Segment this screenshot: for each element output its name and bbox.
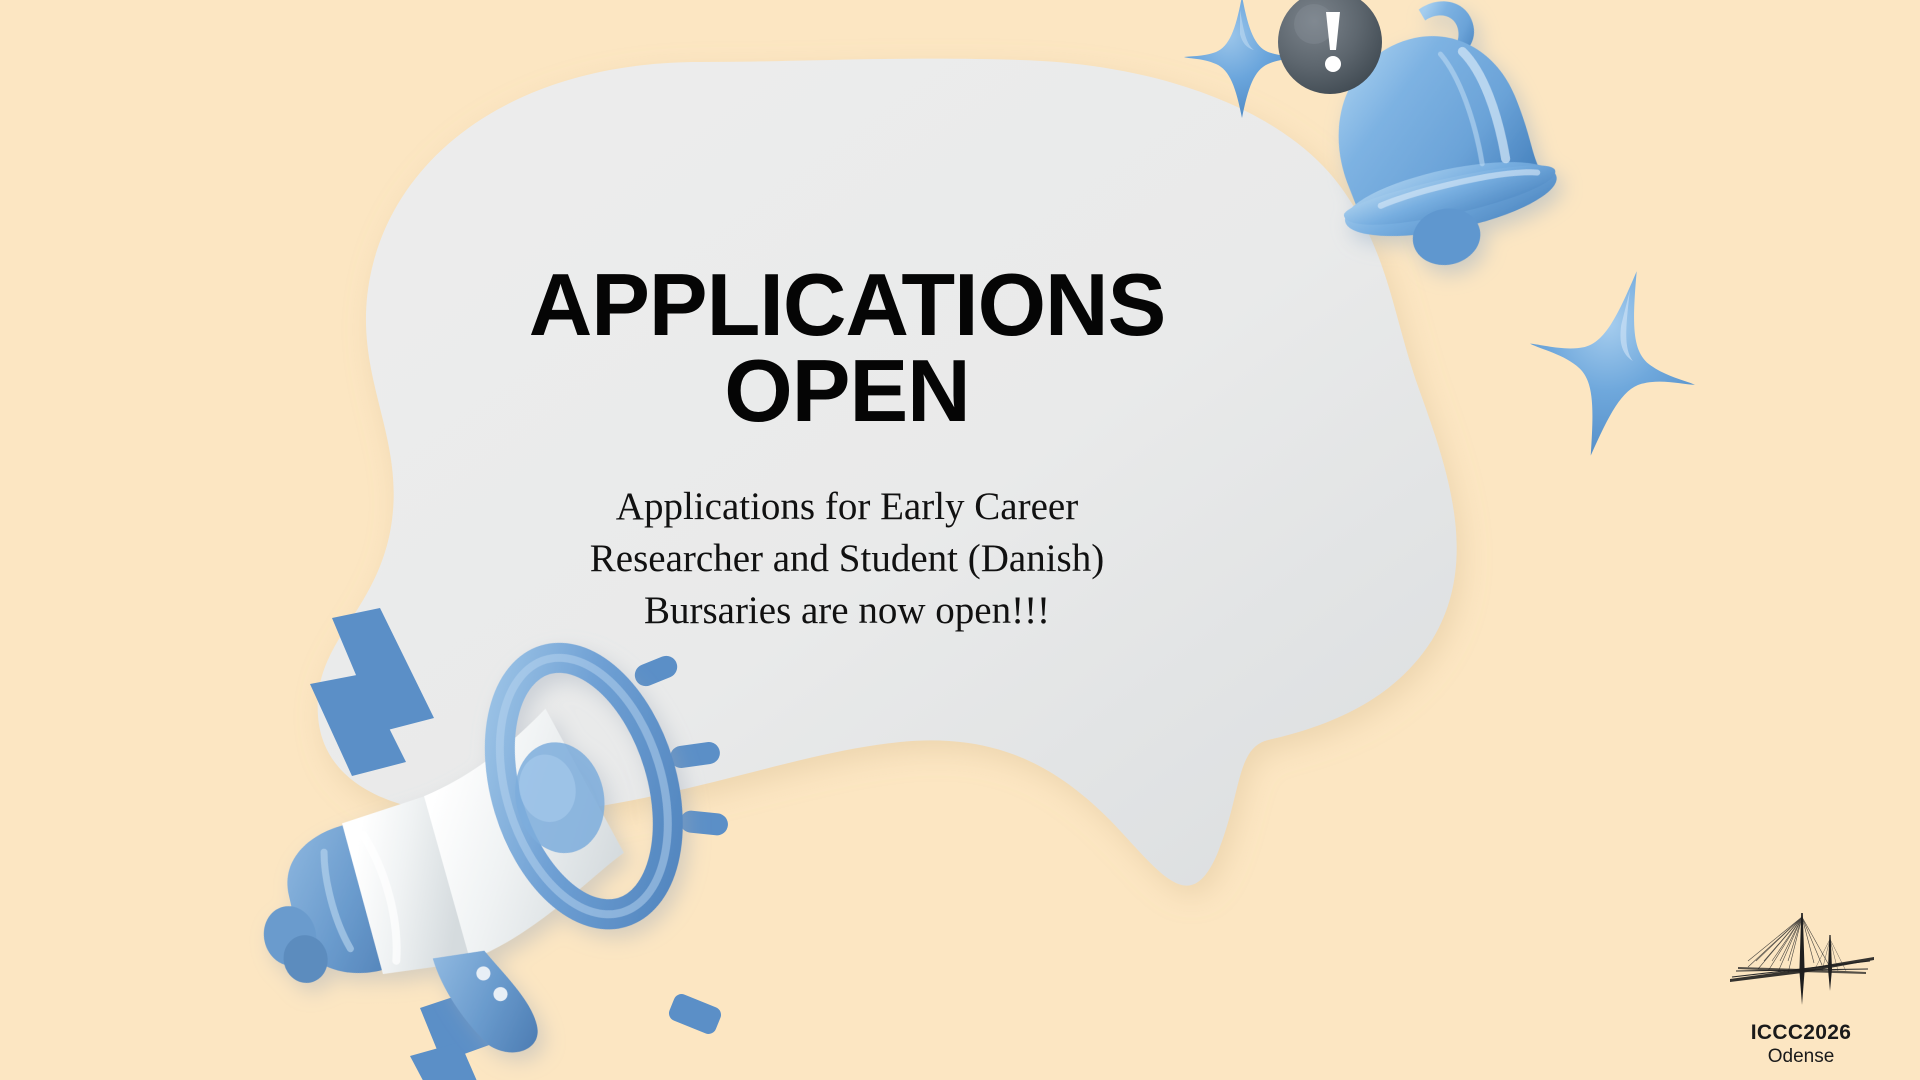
page-title: APPLICATIONS OPEN — [392, 262, 1302, 434]
megaphone-icon — [228, 600, 728, 1080]
conference-logo: ICCC2026 Odense — [1706, 909, 1896, 1068]
poster-canvas: APPLICATIONS OPEN Applications for Early… — [0, 0, 1920, 1080]
logo-title: ICCC2026 — [1706, 1021, 1896, 1045]
announcement-text: APPLICATIONS OPEN Applications for Early… — [392, 262, 1302, 637]
odense-bridge-mark-icon — [1726, 909, 1876, 1019]
logo-subtitle: Odense — [1706, 1046, 1896, 1068]
notification-bell-icon — [1252, 0, 1592, 330]
